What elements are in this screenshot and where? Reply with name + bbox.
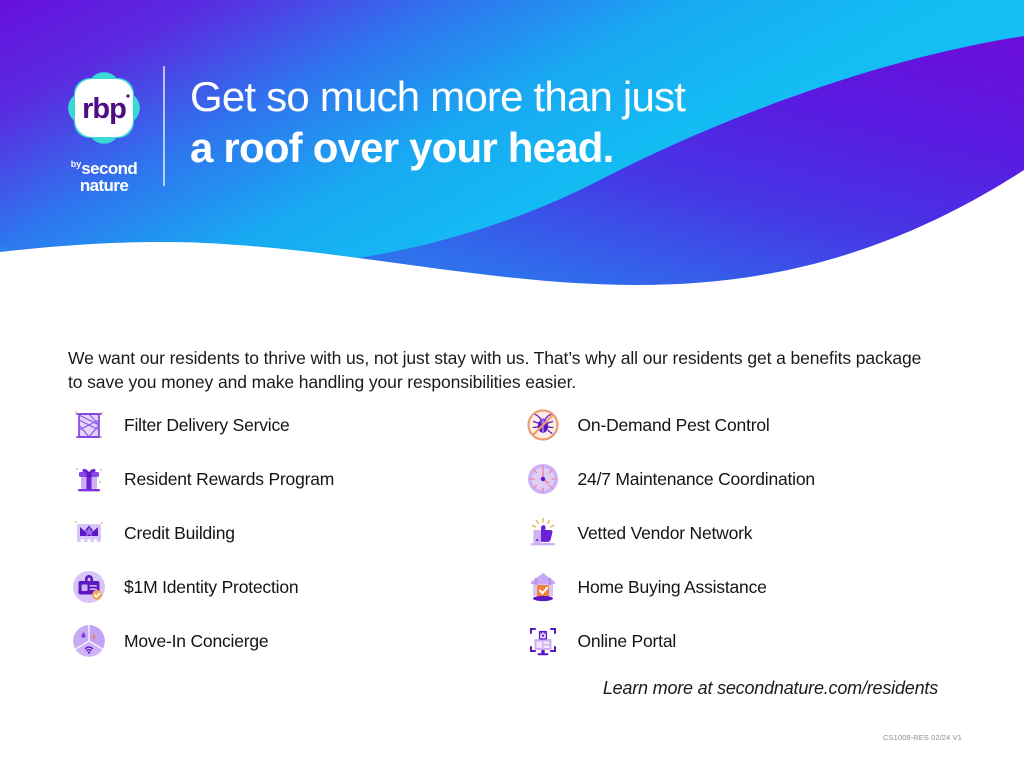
benefits-column-right: On-Demand Pest Control: [495, 398, 949, 668]
list-item-label: Resident Rewards Program: [124, 469, 334, 490]
list-item-label: Credit Building: [124, 523, 235, 544]
logo-nature-text: nature: [56, 177, 152, 194]
logo-second-text: second: [81, 160, 137, 177]
rbp-wordmark: rbp: [82, 93, 126, 125]
list-item-label: Move-In Concierge: [124, 631, 268, 652]
id-briefcase-icon: [68, 566, 110, 608]
headline-line-1: Get so much more than just: [190, 72, 685, 122]
list-item: Move-In Concierge: [68, 614, 495, 668]
page-title: Get so much more than just a roof over y…: [190, 72, 685, 173]
list-item-label: Home Buying Assistance: [578, 577, 767, 598]
list-item: $1M Identity Protection: [68, 560, 495, 614]
list-item: Home Buying Assistance: [522, 560, 949, 614]
thumbs-up-icon: [522, 512, 564, 554]
list-item: Resident Rewards Program: [68, 452, 495, 506]
list-item: Online Portal: [522, 614, 949, 668]
learn-more-text: Learn more at secondnature.com/residents: [603, 678, 938, 699]
no-pest-icon: [522, 404, 564, 446]
rbp-logo-mark: rbp: [58, 62, 150, 154]
crown-badge-icon: [68, 512, 110, 554]
filter-icon: [68, 404, 110, 446]
list-item-label: $1M Identity Protection: [124, 577, 298, 598]
list-item-label: On-Demand Pest Control: [578, 415, 770, 436]
monitor-portal-icon: [522, 620, 564, 662]
version-code: CS1008-RES 02/24 V1: [883, 733, 962, 742]
list-item-label: Vetted Vendor Network: [578, 523, 753, 544]
list-item-label: Online Portal: [578, 631, 677, 652]
house-check-icon: [522, 566, 564, 608]
rosette-icon: rbp: [58, 62, 150, 154]
list-item-label: Filter Delivery Service: [124, 415, 290, 436]
hero-banner: rbp bysecond nature Get so much more tha…: [0, 0, 1024, 300]
list-item: Filter Delivery Service: [68, 398, 495, 452]
list-item: 24/7 Maintenance Coordination: [522, 452, 949, 506]
list-item: On-Demand Pest Control: [522, 398, 949, 452]
move-in-wifi-icon: [68, 620, 110, 662]
list-item: Vetted Vendor Network: [522, 506, 949, 560]
intro-paragraph: We want our residents to thrive with us,…: [68, 346, 934, 394]
clock-icon: [522, 458, 564, 500]
benefits-column-left: Filter Delivery Service Resident Reward: [68, 398, 495, 668]
list-item: Credit Building: [68, 506, 495, 560]
headline-line-2: a roof over your head.: [190, 123, 685, 173]
by-second-nature-lockup: bysecond nature: [56, 160, 152, 194]
benefits-list: Filter Delivery Service Resident Reward: [68, 398, 948, 668]
header-divider: [163, 66, 165, 186]
list-item-label: 24/7 Maintenance Coordination: [578, 469, 815, 490]
logo-by-text: by: [71, 159, 82, 169]
gift-icon: [68, 458, 110, 500]
brand-logo: rbp bysecond nature: [56, 62, 152, 192]
